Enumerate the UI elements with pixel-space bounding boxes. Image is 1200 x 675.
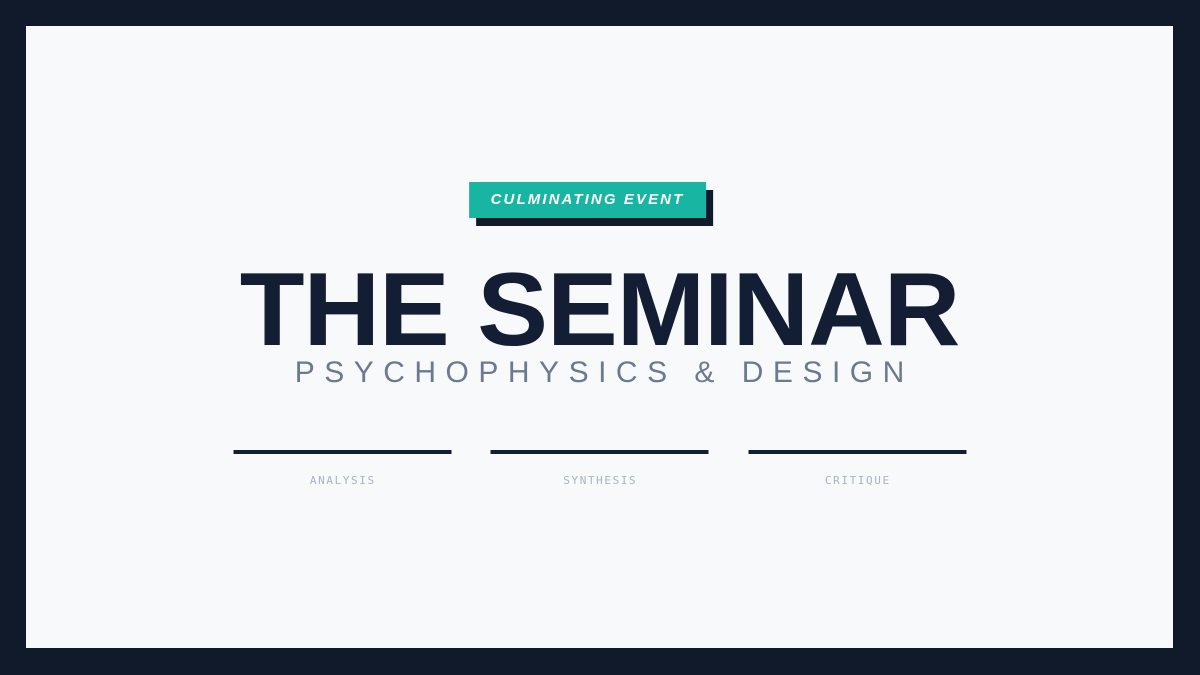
slide-frame: CULMINATING EVENT THE SEMINAR PSYCHOPHYS… [0, 0, 1200, 675]
section-column-analysis: ANALYSIS [233, 450, 451, 487]
section-columns: ANALYSIS SYNTHESIS CRITIQUE [233, 450, 966, 487]
page-subtitle: PSYCHOPHYSICS & DESIGN [26, 356, 1173, 390]
column-label-synthesis: SYNTHESIS [562, 474, 638, 487]
slide-panel: CULMINATING EVENT THE SEMINAR PSYCHOPHYS… [26, 26, 1173, 648]
page-title: THE SEMINAR [15, 258, 1185, 362]
culminating-event-badge: CULMINATING EVENT [469, 182, 707, 218]
column-rule [491, 450, 709, 454]
column-label-critique: CRITIQUE [823, 474, 890, 487]
column-rule [748, 450, 966, 454]
column-label-analysis: ANALYSIS [308, 474, 375, 487]
column-rule [233, 450, 451, 454]
section-column-critique: CRITIQUE [748, 450, 966, 487]
badge-label: CULMINATING EVENT [469, 182, 707, 218]
section-column-synthesis: SYNTHESIS [491, 450, 709, 487]
